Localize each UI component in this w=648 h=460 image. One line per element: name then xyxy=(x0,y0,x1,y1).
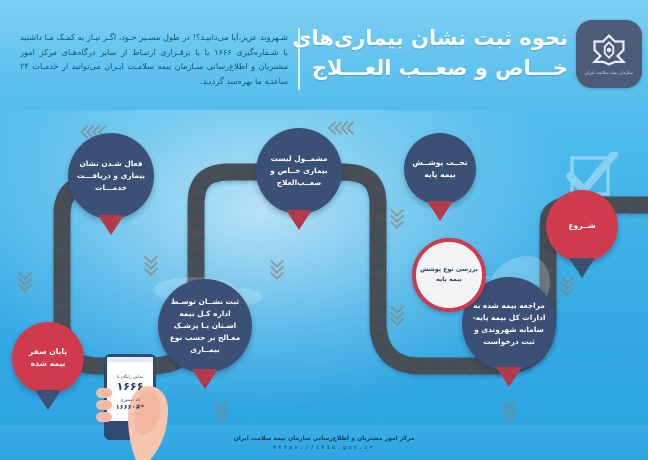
chevron-direction-arrow xyxy=(216,398,226,416)
footer-organization: مرکز امور مشتریان و اطلاع‌رسانی سازمان ب… xyxy=(234,435,415,442)
chevron-direction-arrow xyxy=(146,252,156,270)
footer-url[interactable]: https://ihio.gov.ir xyxy=(273,445,375,451)
lead-paragraph: شـهروند عزیز،آیا می‌دانیـد؟! در طول مسـی… xyxy=(20,30,288,88)
flow-step-coverage-check-label: بررسی نوع پوشش بیمه پایه xyxy=(416,265,482,285)
phone-caption-top: تماس رایگان با xyxy=(117,374,143,379)
phone-screen: تماس رایگان با ۱۶۶۶ کد دستوری *۱۶۶۶۰# xyxy=(107,363,153,421)
page-title-line-2: خـــاص و صعــب العـــلاج xyxy=(308,54,568,84)
chevron-direction-arrow xyxy=(272,256,282,274)
phone-number: ۱۶۶۶ xyxy=(117,380,144,393)
flow-step-referral-label: مراجعه بیمه شده به ادارات کل بیمه پایه- … xyxy=(462,300,556,348)
organization-logo-name: سازمان بیمه سلامت ایران xyxy=(585,71,633,76)
organization-logo: سازمان بیمه سلامت ایران xyxy=(576,20,642,88)
flow-step-activate-label: فعال شـدن نشان بیماری و دریافـــت خدمـــ… xyxy=(68,158,154,194)
header-banner: شـهروند عزیز،آیا می‌دانیـد؟! در طول مسـی… xyxy=(0,0,648,110)
chevron-direction-arrow xyxy=(392,205,402,223)
hand-holding-phone-illustration: تماس رایگان با ۱۶۶۶ کد دستوری *۱۶۶۶۰# xyxy=(84,352,194,460)
health-insurance-star-logo-icon xyxy=(592,33,626,67)
flow-step-end-label: پایان سفر بیمه شده xyxy=(12,346,84,371)
flow-step-disease-list[interactable]: مشمــول لیست بیماری خــاص و صعــب‌العلاج xyxy=(256,128,342,214)
phone-caption-bottom: کد دستوری xyxy=(120,397,140,402)
flow-step-covered[interactable]: تحــت پوشــش بیمه پایه xyxy=(404,133,476,205)
phone-ussd-code: *۱۶۶۶۰# xyxy=(116,403,144,411)
flow-step-covered-label: تحــت پوشــش بیمه پایه xyxy=(404,157,476,182)
page-title-line-1: نحوه ثبت نشان بیماری‌های xyxy=(308,24,568,54)
page-title: نحوه ثبت نشان بیماری‌های خـــاص و صعــب … xyxy=(308,24,568,84)
flow-step-start[interactable]: شــروع xyxy=(546,190,618,262)
flow-step-start-label: شــروع xyxy=(560,220,603,232)
infographic-canvas: شـهروند عزیز،آیا می‌دانیـد؟! در طول مسـی… xyxy=(0,0,648,460)
chevron-direction-arrow xyxy=(334,118,358,137)
flow-step-end[interactable]: پایان سفر بیمه شده xyxy=(12,322,84,394)
flow-step-register-mark-label: ثبت نشــان توسـط اداره کـل بیمه اسـتان ی… xyxy=(158,296,252,356)
flow-step-activate[interactable]: فعال شـدن نشان بیماری و دریافـــت خدمـــ… xyxy=(68,133,154,219)
chevron-direction-arrow xyxy=(504,398,514,416)
chevron-direction-arrow xyxy=(392,302,402,320)
flow-step-coverage-check[interactable]: بررسی نوع پوشش بیمه پایه xyxy=(412,238,486,312)
flow-step-disease-list-label: مشمــول لیست بیماری خــاص و صعــب‌العلاج xyxy=(256,153,342,189)
chevron-direction-arrow xyxy=(20,268,30,286)
